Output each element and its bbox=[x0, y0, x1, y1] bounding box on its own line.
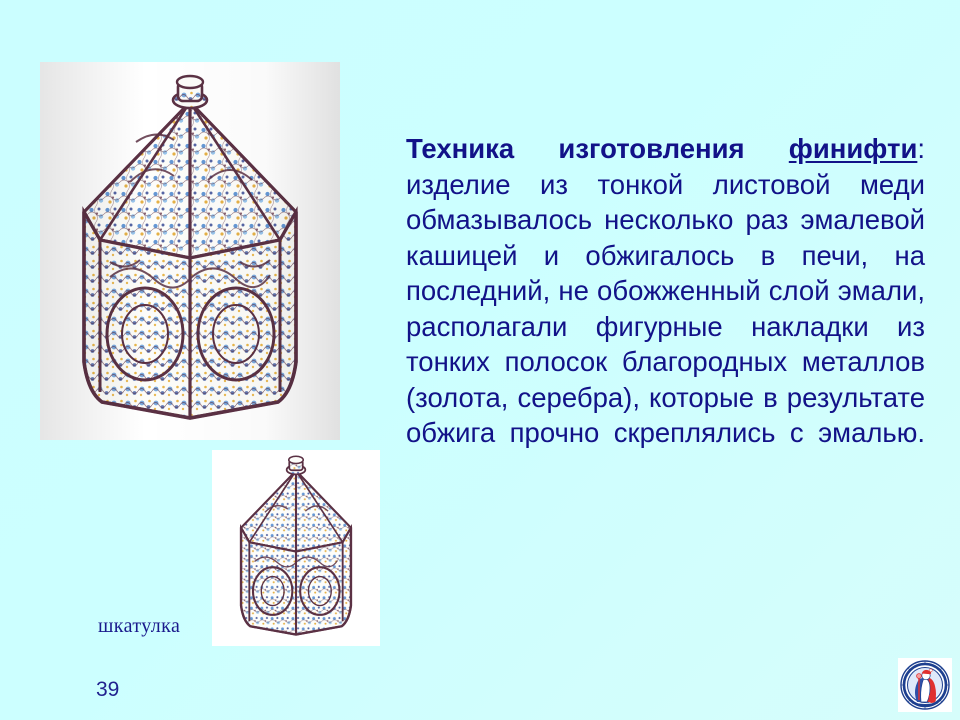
emblem-svg bbox=[898, 658, 952, 712]
page-number: 39 bbox=[96, 678, 119, 702]
casket-photo-small bbox=[212, 450, 380, 646]
casket-svg-large bbox=[40, 62, 340, 440]
casket-illustration-large bbox=[40, 62, 340, 440]
slide-canvas: шкатулка 39 Техника изготовления финифти… bbox=[0, 0, 960, 720]
term-finifti: финифти bbox=[789, 133, 918, 164]
casket-svg-small bbox=[212, 450, 380, 646]
paragraph-finift: Техника изготовления финифти: изделие из… bbox=[406, 131, 925, 486]
casket-illustration-small bbox=[212, 450, 380, 646]
image-caption: шкатулка bbox=[98, 615, 180, 638]
ded-moroz-emblem-logo bbox=[898, 658, 952, 712]
body-segment: : изделие из тонкой листовой меди обмазы… bbox=[406, 133, 925, 448]
heading-segment: Техника изготовления bbox=[406, 133, 789, 164]
slide-body-text: Техника изготовления финифти: изделие из… bbox=[406, 131, 925, 486]
casket-photo-large bbox=[40, 62, 340, 440]
